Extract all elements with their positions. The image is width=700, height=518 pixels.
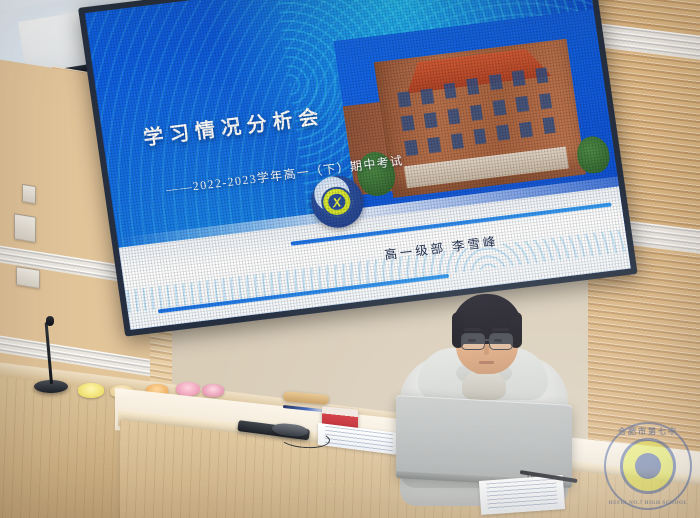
person-mouth	[479, 361, 494, 364]
inner-tshirt	[462, 370, 506, 400]
laptop-lid	[396, 395, 572, 485]
emblem-letter: X	[327, 192, 346, 211]
microphone-head	[46, 316, 54, 326]
tape-roll-yellow	[78, 383, 104, 398]
tape-roll-pink	[176, 382, 200, 396]
building-window	[539, 93, 553, 109]
building-window	[542, 117, 556, 133]
building-window	[404, 140, 418, 156]
wall-mounted-box	[14, 213, 36, 242]
printed-handout	[479, 475, 565, 515]
building-window	[496, 124, 510, 140]
building-window	[450, 133, 464, 149]
building-window	[473, 129, 487, 145]
building-window	[470, 104, 484, 120]
building-window	[447, 108, 461, 124]
eyeglasses-bridge	[483, 339, 491, 341]
emblem-inner-ring: X	[320, 185, 354, 219]
person-nose	[484, 344, 489, 355]
tape-roll-pink-second	[202, 384, 224, 397]
building-window	[427, 137, 441, 153]
watermark-school-name-en: HEFEI NO.7 HIGH SCHOOL	[604, 501, 692, 506]
person-eye-left	[468, 339, 476, 342]
building-window	[512, 70, 526, 86]
building-window	[401, 115, 415, 131]
led-display-wall[interactable]: X 学习情况分析会 ——2022-2023学年高一（下）期中考试 高一级部 李雪…	[78, 0, 638, 337]
school-watermark-logo: 合肥市第七中 HEFEI NO.7 HIGH SCHOOL	[604, 422, 692, 510]
building-window	[397, 91, 411, 107]
building-window	[493, 100, 507, 116]
wall-mounted-box	[16, 266, 40, 289]
building-window	[489, 74, 503, 90]
person-eyebrow-left	[464, 328, 481, 331]
person-eye-right	[494, 339, 502, 342]
handout-text-lines	[486, 479, 558, 511]
person-eyebrow-right	[492, 328, 509, 331]
building-window	[443, 82, 457, 98]
building-window	[466, 78, 480, 94]
wall-mounted-box	[22, 184, 36, 204]
building-window	[519, 121, 533, 137]
conference-room-photo: X 学习情况分析会 ——2022-2023学年高一（下）期中考试 高一级部 李雪…	[0, 0, 700, 518]
building-window	[535, 67, 549, 83]
building-window	[420, 88, 434, 104]
building-window	[424, 112, 438, 128]
watermark-school-name-cn: 合肥市第七中	[604, 426, 692, 437]
building-window	[516, 96, 530, 112]
building-main	[373, 38, 585, 198]
